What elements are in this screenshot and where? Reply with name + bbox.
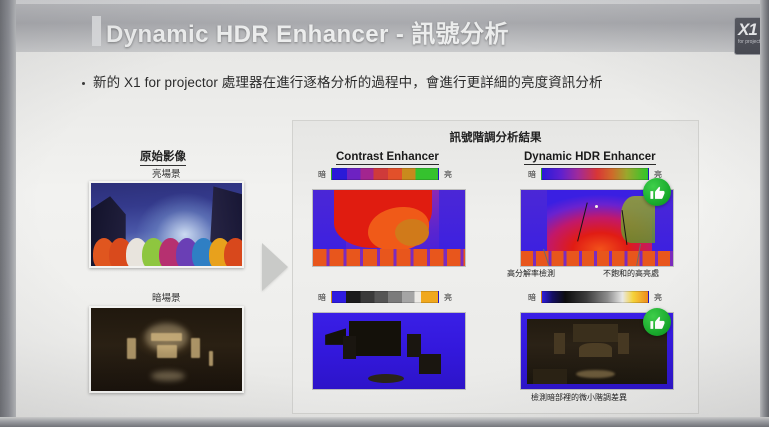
dark-scene-caption: 暗場景 [152,290,181,304]
logo-mark: X1 [738,20,757,40]
colorbar-low-label: 暗 [528,169,536,180]
colorbar-gradient [331,168,439,180]
colorbar-dynamic-hdr-dark: 暗 亮 [528,291,662,303]
colorbar-low-label: 暗 [528,292,536,303]
bullet-text: 新的 X1 for projector 處理器在進行逐格分析的過程中，會進行更詳… [93,73,603,93]
colorbar-gradient [541,291,649,303]
column-header-contrast-enhancer: Contrast Enhancer [336,151,439,165]
bullet-row: 新的 X1 for projector 處理器在進行逐格分析的過程中，會進行更詳… [82,73,722,93]
heatmap-contrast-enhancer-bright [312,189,466,267]
slide-canvas: Dynamic HDR Enhancer - 訊號分析 X1 for proje… [0,0,769,427]
screen-bezel-right [760,0,769,427]
colorbar-low-label: 暗 [318,292,326,303]
screen-bezel-bottom [0,417,769,427]
colorbar-gradient [541,168,649,180]
original-dark-scene-photo [89,306,244,393]
annotation-high-resolution-detection: 高分解率檢測 [507,268,555,279]
bullet-dot-icon [82,82,85,85]
heatmap-contrast-enhancer-dark [312,312,466,390]
annotation-shadow-gradation: 檢測暗部裡的微小階調差異 [531,392,627,403]
thumbs-up-badge-dark [643,308,671,336]
flow-arrow-icon [262,243,288,291]
colorbar-dynamic-hdr-bright: 暗 亮 [528,168,662,180]
original-images-heading: 原始影像 [140,148,186,166]
colorbar-contrast-enhancer-bright: 暗 亮 [318,168,452,180]
colorbar-high-label: 亮 [444,169,452,180]
panel-title: 訊號階調分析結果 [293,129,698,145]
colorbar-low-label: 暗 [318,169,326,180]
screen-bezel-left [0,0,16,427]
original-bright-scene-photo [89,181,244,268]
title-accent-bar [92,16,101,46]
page-title: Dynamic HDR Enhancer - 訊號分析 [106,14,509,49]
thumbs-up-icon [649,184,666,201]
column-header-dynamic-hdr-enhancer: Dynamic HDR Enhancer [524,151,656,165]
slide-header: Dynamic HDR Enhancer - 訊號分析 X1 for proje… [0,4,769,52]
colorbar-high-label: 亮 [654,292,662,303]
thumbs-up-badge-bright [643,178,671,206]
thumbs-up-icon [649,314,666,331]
colorbar-contrast-enhancer-dark: 暗 亮 [318,291,452,303]
bright-scene-caption: 亮場景 [152,166,181,180]
colorbar-high-label: 亮 [444,292,452,303]
annotation-unsaturated-highlights: 不飽和的高亮處 [603,268,659,279]
colorbar-gradient [331,291,439,303]
